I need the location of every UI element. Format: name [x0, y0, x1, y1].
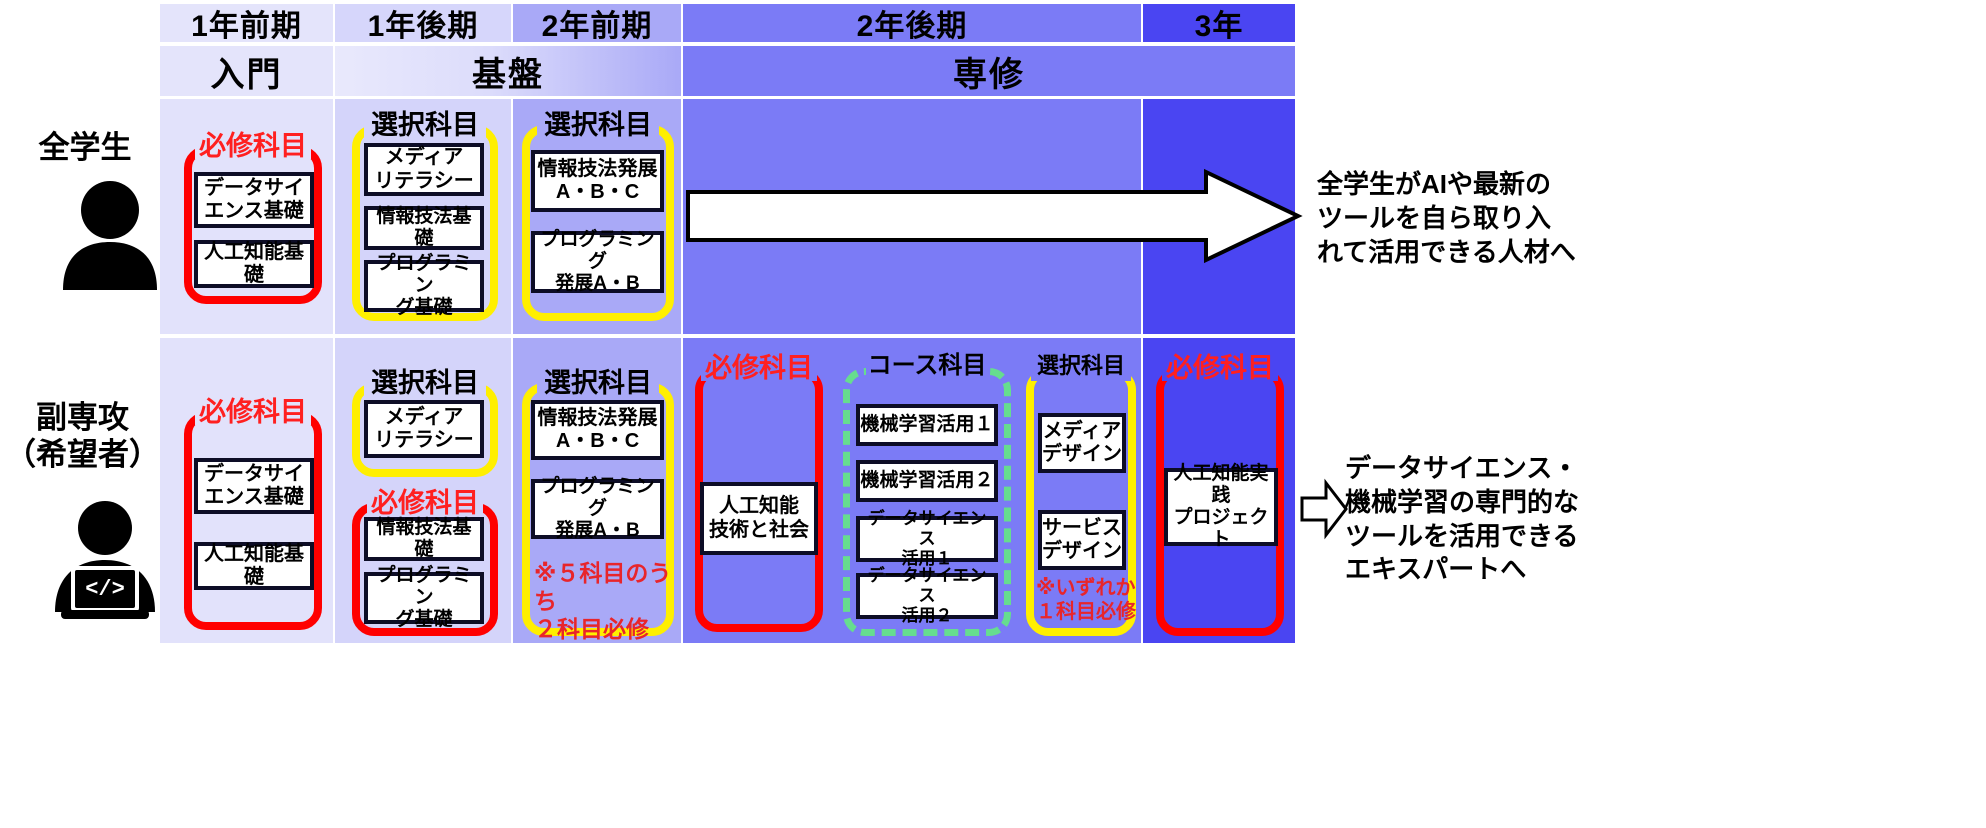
note-1-of-2-required: ※いずれか １科目必修	[1036, 576, 1146, 625]
person-coding-icon-svg: </>	[45, 500, 165, 625]
progress-arrow-svg	[686, 170, 1300, 262]
course-box[interactable]: 人工知能 技術と社会	[700, 482, 818, 555]
course-box[interactable]: データサイ エンス基礎	[194, 458, 314, 514]
course-box[interactable]: データサイエンス 活用１	[856, 516, 998, 562]
course-box[interactable]: 機械学習活用２	[856, 460, 998, 502]
course-box[interactable]: 人工知能実践 プロジェクト	[1164, 468, 1278, 546]
term-header-2nen-kouki: 2年後期	[683, 4, 1143, 42]
term-label: 1年後期	[368, 1, 479, 45]
course-box[interactable]: 人工知能基礎	[194, 542, 314, 590]
term-header-3nen: 3年	[1143, 4, 1295, 42]
group-title-required: 必修科目	[362, 490, 488, 517]
term-header-2nen-zenki: 2年前期	[513, 4, 683, 42]
term-label: 2年後期	[857, 1, 968, 45]
course-box[interactable]: 人工知能基礎	[194, 240, 314, 288]
row-label-text: 副専攻 （希望者）	[5, 400, 160, 473]
phase-header-nyumon: 入門	[160, 46, 335, 96]
group-title-required: 必修科目	[696, 355, 822, 382]
group-title-elective: 選択科目	[535, 112, 661, 139]
course-box[interactable]: メディア リテラシー	[364, 143, 484, 196]
person-icon-svg	[55, 180, 165, 290]
term-label: 1年前期	[191, 1, 302, 45]
row-label-text: 全学生	[39, 130, 132, 167]
outcome-arrow-svg	[1300, 480, 1348, 538]
group-title-elective: 選択科目	[1028, 355, 1134, 377]
course-box[interactable]: 機械学習活用１	[856, 404, 998, 446]
phase-label: 専修	[953, 47, 1025, 96]
outcome-arrow-icon	[1300, 480, 1348, 538]
group-title-course: コース科目	[859, 354, 996, 378]
group-title-required: 必修科目	[1157, 355, 1283, 382]
course-box[interactable]: 情報技法基礎	[364, 517, 484, 561]
group-title-elective: 選択科目	[362, 370, 488, 397]
person-coding-icon: </>	[45, 500, 165, 625]
svg-text:</>: </>	[85, 577, 125, 602]
term-label: 3年	[1195, 1, 1244, 45]
person-icon	[55, 180, 165, 290]
course-box[interactable]: プログラミング 発展A・B	[531, 231, 664, 293]
phase-label: 入門	[211, 47, 283, 96]
group-title-elective: 選択科目	[535, 370, 661, 397]
course-box[interactable]: メディア リテラシー	[364, 400, 484, 458]
course-box[interactable]: 情報技法発展 A・B・C	[531, 150, 664, 212]
caption-all-students: 全学生がAIや最新の ツールを自ら取り入 れて活用できる人材へ	[1317, 168, 1647, 269]
phase-label: 基盤	[472, 47, 544, 96]
course-box[interactable]: プログラミン グ基礎	[364, 260, 484, 312]
phase-header-kiban: 基盤	[335, 46, 683, 96]
group-title-elective: 選択科目	[362, 112, 488, 139]
course-box[interactable]: メディア デザイン	[1038, 413, 1126, 473]
term-header-1nen-kouki: 1年後期	[335, 4, 513, 42]
term-header-1nen-zenki: 1年前期	[160, 4, 335, 42]
note-2-of-5-required: ※５科目のうち ２科目必修	[534, 559, 674, 643]
group-title-required: 必修科目	[190, 133, 316, 160]
term-label: 2年前期	[542, 1, 653, 45]
course-box[interactable]: 情報技法基礎	[364, 206, 484, 250]
group-title-required: 必修科目	[190, 399, 316, 426]
course-box[interactable]: プログラミング 発展A・B	[531, 479, 664, 539]
curriculum-diagram: 1年前期 1年後期 2年前期 2年後期 3年 入門 基盤 専修 全学生	[0, 0, 1986, 828]
group-required-row2-term1: 必修科目	[184, 412, 322, 630]
course-box[interactable]: 情報技法発展 A・B・C	[531, 400, 664, 460]
course-box[interactable]: データサイ エンス基礎	[194, 172, 314, 228]
phase-header-senshu: 専修	[683, 46, 1295, 96]
course-box[interactable]: サービス デザイン	[1038, 510, 1126, 570]
course-box[interactable]: データサイエンス 活用２	[856, 573, 998, 619]
course-box[interactable]: プログラミン グ基礎	[364, 572, 484, 624]
progress-arrow-icon	[686, 170, 1300, 262]
caption-minor: データサイエンス・ 機械学習の専門的な ツールを活用できる エキスパートへ	[1345, 452, 1685, 587]
